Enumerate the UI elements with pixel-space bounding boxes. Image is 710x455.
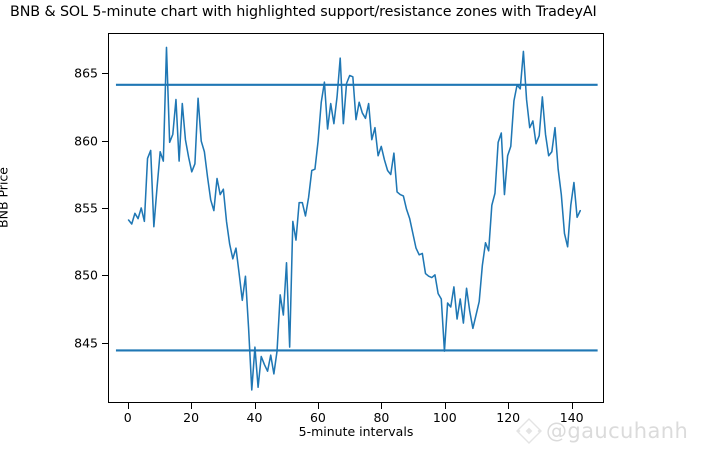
plot-area [108,33,604,403]
x-tick-label: 40 [225,410,285,425]
x-tick-mark [128,403,129,409]
y-tick-label: 865 [38,66,98,81]
y-tick-label: 845 [38,335,98,350]
x-tick-label: 140 [542,410,602,425]
x-tick-label: 60 [288,410,348,425]
x-tick-mark [508,403,509,409]
y-tick-label: 860 [38,133,98,148]
y-tick-label: 855 [38,200,98,215]
y-axis-label: BNB Price [0,0,11,448]
x-tick-mark [381,403,382,409]
x-tick-label: 20 [161,410,221,425]
x-tick-label: 80 [351,410,411,425]
x-tick-mark [255,403,256,409]
x-tick-mark [191,403,192,409]
x-tick-mark [572,403,573,409]
x-tick-label: 0 [98,410,158,425]
x-axis-label: 5-minute intervals [108,424,604,439]
y-tick-label: 850 [38,268,98,283]
price-series-lines [129,47,581,390]
x-tick-mark [445,403,446,409]
chart-title: BNB & SOL 5-minute chart with highlighte… [10,4,710,20]
x-tick-label: 120 [478,410,538,425]
support-resistance-lines [116,85,598,351]
x-tick-label: 100 [415,410,475,425]
series-canvas [109,34,603,402]
chart-figure: BNB & SOL 5-minute chart with highlighte… [0,0,710,455]
x-tick-mark [318,403,319,409]
series-line-0 [129,47,581,390]
